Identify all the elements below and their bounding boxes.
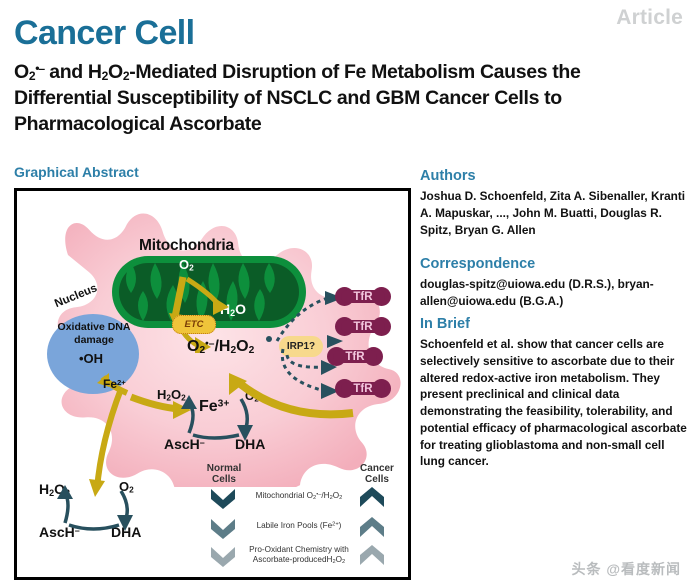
chevron-up-icon <box>358 517 386 539</box>
chevron-down-icon <box>209 487 237 509</box>
legend-cancer-cells-header: CancerCells <box>354 463 400 485</box>
diagram-legend: NormalCells CancerCells Mitochondrial O2… <box>195 463 400 571</box>
tfr-receptor: TfR <box>335 287 391 306</box>
title-o2: O2•– <box>14 61 44 83</box>
graphical-abstract-figure: Mitochondria O2 H2O ETC O2•–/H2O2 <box>14 188 411 580</box>
correspondence-emails[interactable]: douglas-spitz@uiowa.edu (D.R.S.), bryan-… <box>420 276 688 310</box>
hydroxyl-radical-label: •OH <box>79 351 103 366</box>
chevron-down-icon <box>209 545 237 567</box>
chevron-up-icon <box>358 487 386 509</box>
nucleus-annotation: Oxidative DNA damage <box>53 321 135 347</box>
article-type-label: Article <box>616 6 683 30</box>
authors-list: Joshua D. Schoenfeld, Zita A. Sibenaller… <box>420 188 688 238</box>
superoxide-peroxide-label: O2•–/H2O2 <box>187 338 254 356</box>
tfr-receptor: TfR <box>335 317 391 336</box>
ascorbate-cycle-arrows <box>43 483 153 535</box>
tfr-receptor: TfR <box>335 379 391 398</box>
journal-title: Cancer Cell <box>14 16 194 50</box>
in-brief-text: Schoenfeld et al. show that cancer cells… <box>420 336 688 470</box>
fe2-label: Fe2+ <box>103 377 126 391</box>
legend-row-label: Labile Iron Pools (Fe2+) <box>243 521 355 531</box>
legend-row-label: Mitochondrial O2•–/H2O2 <box>243 491 355 502</box>
graphical-abstract-label: Graphical Abstract <box>14 164 139 180</box>
authors-heading: Authors <box>420 168 476 184</box>
watermark: 头条 @看度新闻 <box>571 559 681 579</box>
chevron-down-icon <box>209 517 237 539</box>
etc-label: ETC <box>172 315 216 334</box>
tfr-receptor: TfR <box>327 347 383 366</box>
legend-row-label: Pro-Oxidant Chemistry withAscorbate-prod… <box>243 545 355 566</box>
legend-normal-cells-header: NormalCells <box>201 463 247 485</box>
title-rest: and H2O2-Mediated Disruption of Fe Metab… <box>14 61 581 135</box>
chevron-up-icon <box>358 545 386 567</box>
correspondence-heading: Correspondence <box>420 256 535 272</box>
page-title: O2•– and H2O2-Mediated Disruption of Fe … <box>14 60 680 138</box>
in-brief-heading: In Brief <box>420 316 470 332</box>
